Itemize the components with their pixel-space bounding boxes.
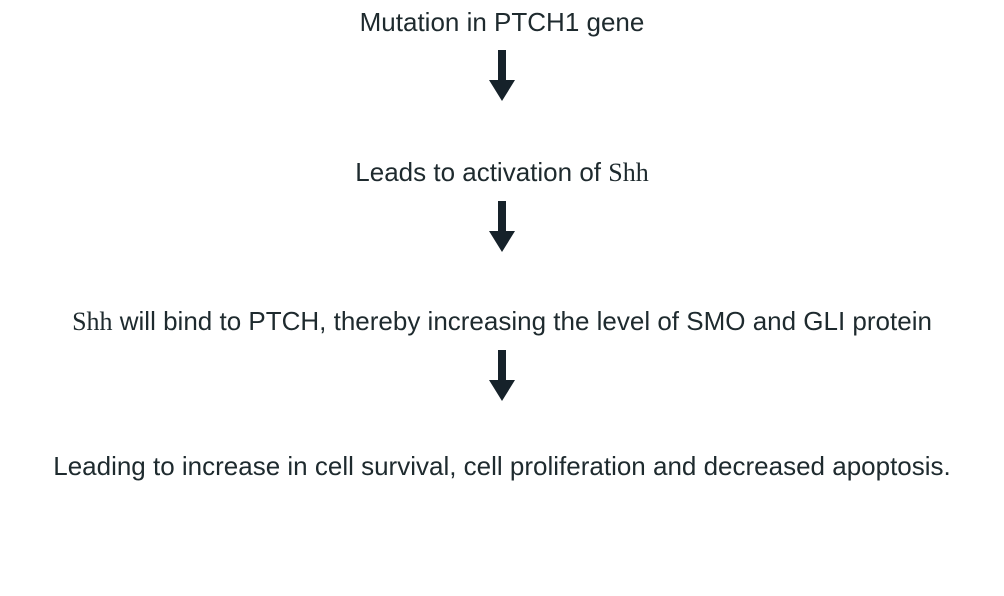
arrow-down-icon [488, 201, 516, 253]
flow-step-2-lead: Leads to activation of [355, 157, 608, 187]
flow-connector-1 [0, 50, 1004, 102]
flow-step-4: Leading to increase in cell survival, ce… [0, 450, 1004, 482]
flow-step-4-label: Leading to increase in cell survival, ce… [53, 451, 951, 481]
arrow-down-icon [488, 50, 516, 102]
flow-diagram: Mutation in PTCH1 gene Leads to activati… [0, 0, 1004, 596]
flow-step-2: Leads to activation of Shh [0, 156, 1004, 189]
flow-step-2-term: Shh [608, 158, 648, 187]
flow-step-3-term: Shh [72, 307, 112, 336]
flow-connector-3 [0, 350, 1004, 402]
arrow-down-icon [488, 350, 516, 402]
flow-step-3-label: will bind to PTCH, thereby increasing th… [113, 306, 932, 336]
flow-connector-2 [0, 201, 1004, 253]
flow-step-1-label: Mutation in PTCH1 gene [360, 7, 645, 37]
flow-step-3: Shh will bind to PTCH, thereby increasin… [0, 305, 1004, 338]
flow-step-1: Mutation in PTCH1 gene [0, 6, 1004, 38]
